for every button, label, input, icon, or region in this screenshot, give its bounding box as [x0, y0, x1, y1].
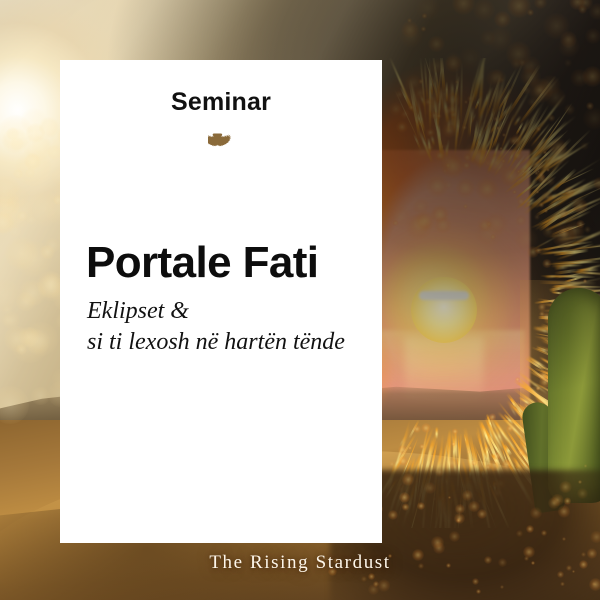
phoenix-crest-icon: [208, 127, 234, 153]
page-title: Portale Fati: [82, 240, 360, 286]
content-card: Seminar Portale Fati Eklipset & si ti le…: [60, 60, 382, 543]
title-block: Portale Fati Eklipset & si ti lexosh në …: [82, 240, 360, 359]
kicker-label: Seminar: [82, 90, 360, 115]
brand-name: The Rising Stardust: [0, 552, 600, 574]
subtitle: Eklipset & si ti lexosh në hartën tënde: [82, 296, 360, 359]
poster-canvas: Seminar Portale Fati Eklipset & si ti le…: [0, 0, 600, 600]
